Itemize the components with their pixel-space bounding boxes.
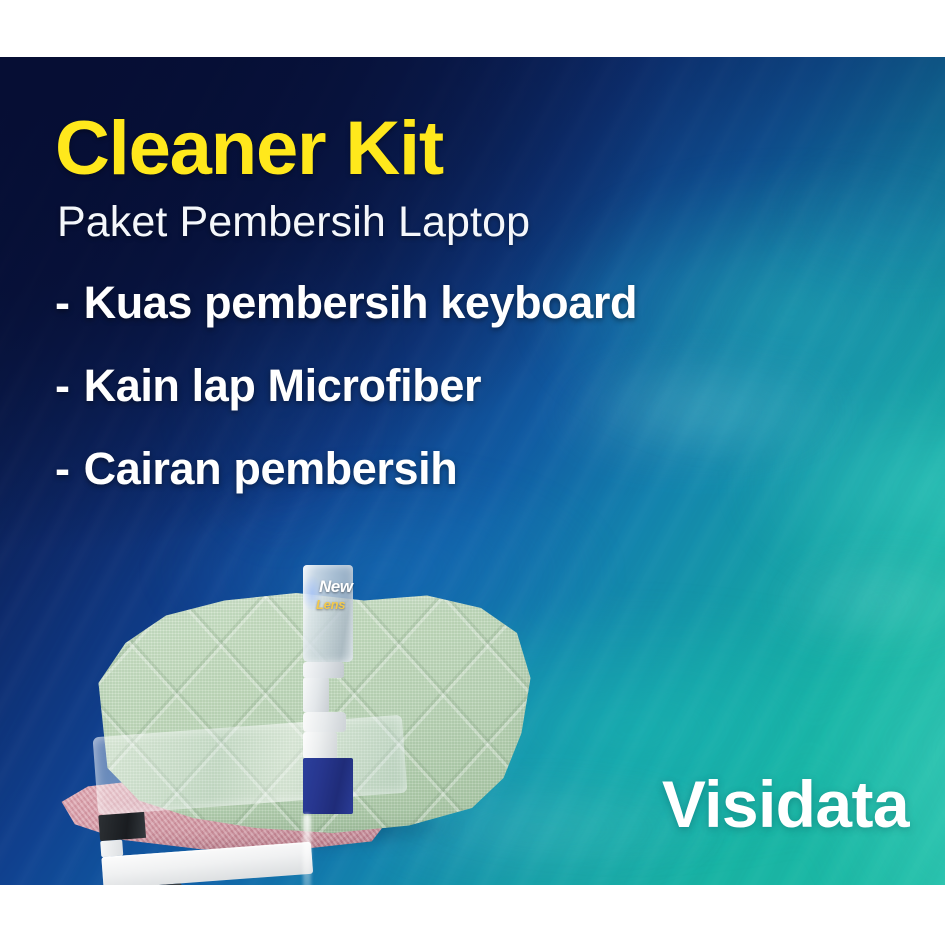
brush-bristles: [98, 812, 146, 841]
feature-label: Kain lap Microfiber: [84, 363, 481, 408]
feature-list-item: - Kuas pembersih keyboard: [55, 280, 855, 325]
bottle-label: New Lens: [303, 758, 353, 814]
feature-list-item: - Cairan pembersih: [55, 446, 855, 491]
cleaning-spray-bottle: New Lens: [303, 565, 371, 740]
promo-subheadline: Paket Pembersih Laptop: [57, 200, 855, 245]
brush-tip: [100, 840, 123, 858]
feature-label: Cairan pembersih: [84, 446, 458, 491]
bullet-dash-icon: -: [55, 280, 70, 325]
bottle-pump-stem: [303, 678, 329, 712]
promo-headline: Cleaner Kit: [55, 112, 855, 186]
bullet-dash-icon: -: [55, 446, 70, 491]
bullet-dash-icon: -: [55, 363, 70, 408]
bottle-spray-nozzle: [303, 712, 346, 732]
bottle-highlight: [303, 814, 311, 885]
feature-list: - Kuas pembersih keyboard - Kain lap Mic…: [55, 280, 855, 491]
promo-banner: Cleaner Kit Paket Pembersih Laptop - Kua…: [0, 57, 945, 885]
bottle-collar: [303, 662, 344, 678]
brand-wordmark: Visidata: [662, 771, 909, 837]
bottle-cap: [303, 732, 337, 758]
promo-copy-block: Cleaner Kit Paket Pembersih Laptop - Kua…: [55, 112, 855, 529]
feature-label: Kuas pembersih keyboard: [84, 280, 638, 325]
product-listing-image: Cleaner Kit Paket Pembersih Laptop - Kua…: [0, 0, 945, 945]
product-photo: New Lens: [55, 560, 545, 860]
feature-list-item: - Kain lap Microfiber: [55, 363, 855, 408]
